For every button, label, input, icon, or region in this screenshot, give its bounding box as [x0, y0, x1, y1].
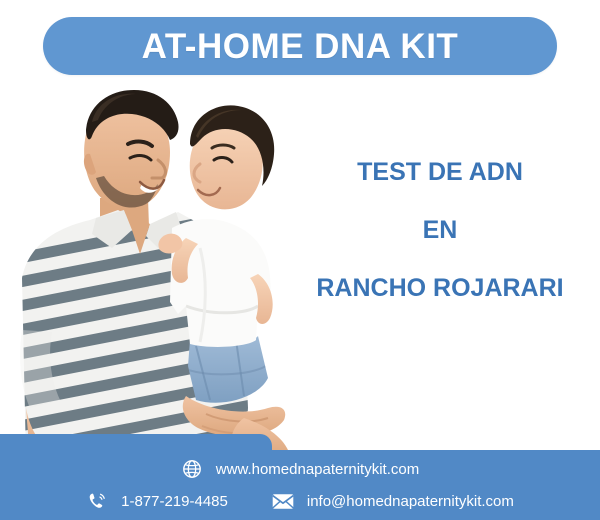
email-label: info@homednapaternitykit.com [307, 493, 514, 510]
page-title: AT-HOME DNA KIT [142, 29, 459, 64]
header-banner: AT-HOME DNA KIT [43, 17, 557, 75]
footer-row-divider [228, 501, 272, 502]
poster: AT-HOME DNA KIT [0, 0, 600, 520]
headline-line-3: RANCHO ROJARARI [305, 276, 575, 301]
phone-item[interactable]: 1-877-219-4485 [86, 490, 228, 512]
email-item[interactable]: info@homednapaternitykit.com [272, 490, 514, 512]
headline-line-2: EN [305, 218, 575, 243]
headline-line-1: TEST DE ADN [305, 160, 575, 185]
headline-block: TEST DE ADN EN RANCHO ROJARARI [305, 160, 575, 301]
footer-contact-bar: www.homednapaternitykit.com 1-877-219-44… [0, 450, 600, 520]
phone-icon [86, 490, 108, 512]
envelope-icon [272, 490, 294, 512]
footer-phone-email-row: 1-877-219-4485 info@homednapaternitykit.… [0, 486, 600, 516]
globe-icon [181, 458, 203, 480]
phone-label: 1-877-219-4485 [121, 493, 228, 510]
footer-website-row: www.homednapaternitykit.com [0, 454, 600, 484]
website-label: www.homednapaternitykit.com [216, 461, 419, 478]
family-photo [0, 78, 320, 458]
website-item[interactable]: www.homednapaternitykit.com [181, 458, 419, 480]
